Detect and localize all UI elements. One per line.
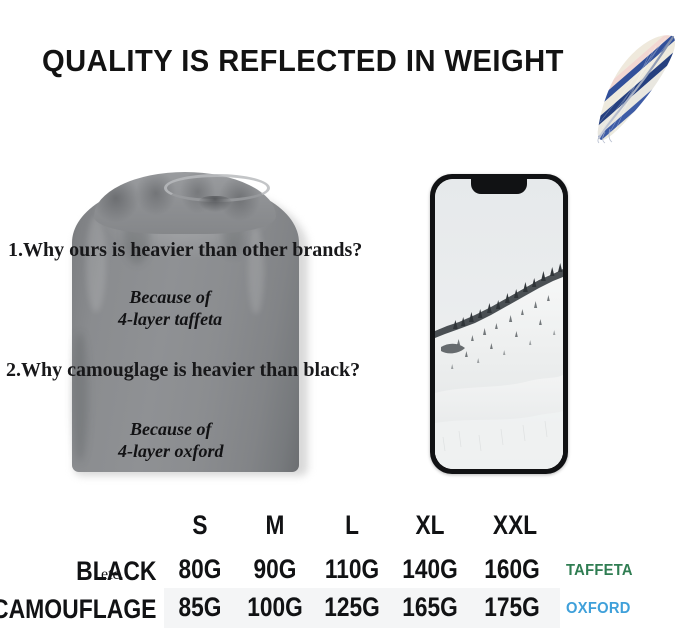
- table-header-size-s: S: [168, 510, 232, 541]
- table-row-label-camouflage: CAMOUFLAGE: [0, 594, 156, 625]
- snowy-mountain-photo: [435, 179, 563, 469]
- faq-answer-1-line1: Because of: [118, 286, 222, 308]
- table-row-label-black-suffix: etc.: [101, 566, 124, 584]
- table-cell-black-xl: 140G: [398, 554, 462, 585]
- material-label-taffeta: TAFFETA: [566, 562, 633, 580]
- table-cell-camo-s: 85G: [168, 592, 232, 623]
- faq-answer-2: Because of 4-layer oxford: [118, 418, 223, 462]
- table-cell-black-m: 90G: [243, 554, 307, 585]
- table-header-size-xxl: XXL: [483, 510, 547, 541]
- table-cell-black-s: 80G: [168, 554, 232, 585]
- infographic-page: QUALITY IS REFLECTED IN WEIGHT: [0, 0, 679, 630]
- faq-answer-2-line1: Because of: [118, 418, 223, 440]
- page-title: QUALITY IS REFLECTED IN WEIGHT: [42, 44, 564, 78]
- phone-notch: [471, 179, 527, 194]
- faq-answer-1-line2: 4-layer taffeta: [118, 308, 222, 330]
- table-cell-black-l: 110G: [320, 554, 384, 585]
- faq-answer-2-line2: 4-layer oxford: [118, 440, 223, 462]
- table-header-size-xl: XL: [398, 510, 462, 541]
- faq-question-2: 2.Why camouglage is heavier than black?: [6, 359, 360, 382]
- table-cell-camo-m: 100G: [243, 592, 307, 623]
- feather-icon: [596, 32, 678, 144]
- table-cell-camo-xxl: 175G: [480, 592, 544, 623]
- table-cell-camo-xl: 165G: [398, 592, 462, 623]
- table-cell-black-xxl: 160G: [480, 554, 544, 585]
- material-label-oxford: OXFORD: [566, 600, 631, 618]
- table-cell-camo-l: 125G: [320, 592, 384, 623]
- smartphone-icon: [430, 174, 568, 474]
- faq-question-1: 1.Why ours is heavier than other brands?: [8, 239, 362, 262]
- faq-answer-1: Because of 4-layer taffeta: [118, 286, 222, 330]
- spec-table: S M L XL XXL BLACK etc. 80G 90G 110G 140…: [0, 504, 679, 630]
- phone-screen: [435, 179, 563, 469]
- table-header-size-l: L: [320, 510, 384, 541]
- table-header-size-m: M: [243, 510, 307, 541]
